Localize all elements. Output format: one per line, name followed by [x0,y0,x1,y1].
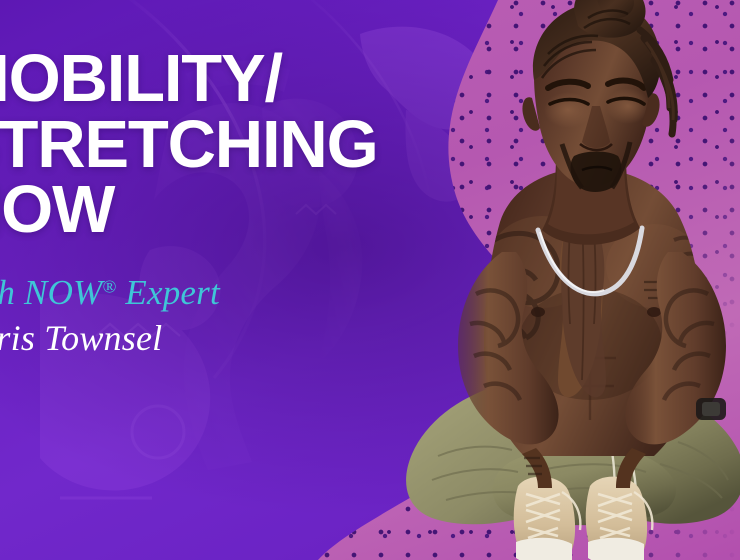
meditating-man-photo [392,0,740,560]
expert-subtitle-text: with NOW [0,273,102,312]
headline-line-3: NOW [0,177,424,243]
expert-subtitle-suffix: Expert [116,273,219,312]
expert-subtitle: with NOW® Expert [0,273,424,313]
headline-line-2: STRETCHING [0,112,424,178]
promo-banner: MOBILITY/ STRETCHING NOW with NOW® Exper… [0,0,740,560]
headline-block: MOBILITY/ STRETCHING NOW with NOW® Exper… [0,46,424,359]
headline-line-1: MOBILITY/ [0,41,282,116]
page-title: MOBILITY/ STRETCHING NOW [0,46,424,243]
registered-trademark-mark: ® [102,277,116,297]
instructor-name: Chris Townsel [0,317,424,359]
